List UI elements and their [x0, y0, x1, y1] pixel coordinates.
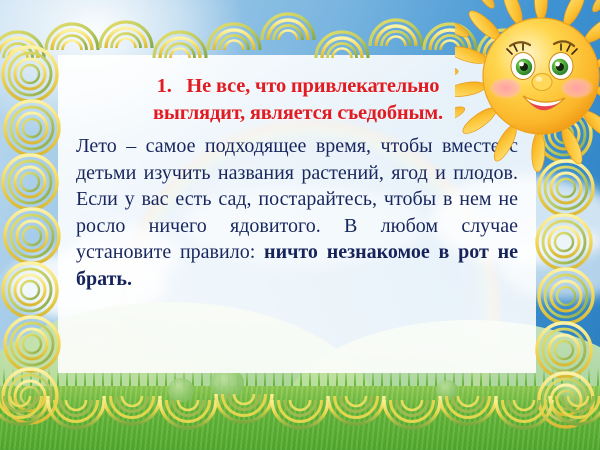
sun-nose [532, 74, 552, 91]
sun-character [455, 0, 600, 174]
body-colon: : [250, 241, 264, 263]
tree-icon [558, 379, 588, 406]
slide-canvas: 1. Не все, что привлекательно выглядит, … [0, 0, 600, 450]
tree-icon [168, 378, 194, 402]
sun-cheek-right [560, 77, 594, 99]
list-number: 1. [157, 75, 172, 97]
title-line-2: выглядит, является съедобным. [80, 100, 516, 127]
title-line-1: 1. Не все, что привлекательно [80, 73, 516, 100]
sun-cheek-left [489, 77, 523, 99]
title-text-1: Не все, что привлекательно [186, 75, 439, 97]
grass-ground [0, 386, 600, 450]
tree-icon [436, 380, 458, 400]
